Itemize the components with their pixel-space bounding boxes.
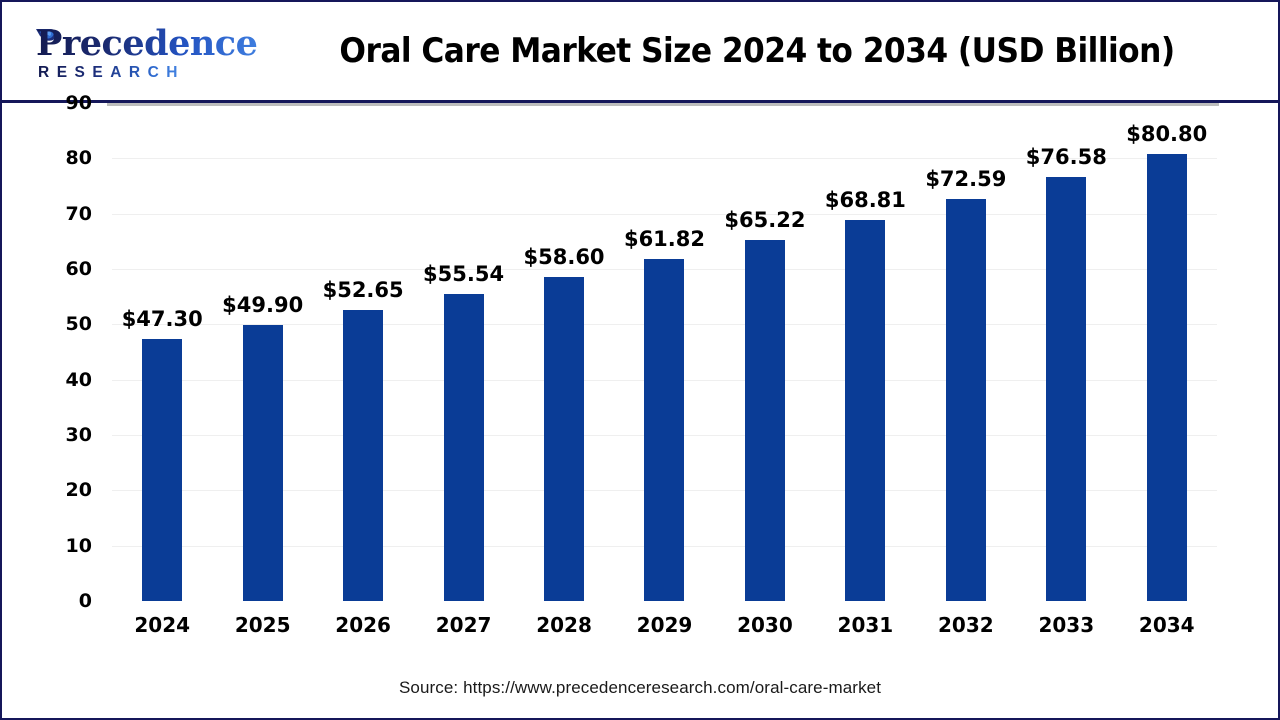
bar[interactable] bbox=[644, 259, 684, 601]
bar[interactable] bbox=[343, 310, 383, 601]
source-caption: Source: https://www.precedenceresearch.c… bbox=[2, 678, 1278, 698]
x-axis-tick-label: 2025 bbox=[235, 613, 291, 637]
bar-value-label: $47.30 bbox=[122, 307, 203, 331]
bar-group: $68.812031 bbox=[815, 103, 915, 601]
y-axis-tick-label: 20 bbox=[32, 479, 92, 501]
x-axis-tick-label: 2029 bbox=[637, 613, 693, 637]
bar-group: $52.652026 bbox=[313, 103, 413, 601]
logo-subtext: RESEARCH bbox=[38, 64, 185, 82]
bar-group: $76.582033 bbox=[1016, 103, 1116, 601]
bar-value-label: $49.90 bbox=[222, 293, 303, 317]
bar-series: $47.302024$49.902025$52.652026$55.542027… bbox=[112, 103, 1217, 601]
chart-page: Precedence RESEARCH Oral Care Market Siz… bbox=[0, 0, 1280, 720]
x-axis-tick-label: 2028 bbox=[536, 613, 592, 637]
chart-header: Precedence RESEARCH Oral Care Market Siz… bbox=[2, 2, 1278, 103]
bar-value-label: $76.58 bbox=[1026, 145, 1107, 169]
bar-group: $49.902025 bbox=[212, 103, 312, 601]
bar-group: $58.602028 bbox=[514, 103, 614, 601]
bar[interactable] bbox=[243, 325, 283, 601]
y-axis-tick-label: 80 bbox=[32, 147, 92, 169]
bar[interactable] bbox=[1147, 154, 1187, 601]
y-axis-tick-label: 30 bbox=[32, 424, 92, 446]
bar-group: $72.592032 bbox=[916, 103, 1016, 601]
bar-value-label: $61.82 bbox=[624, 227, 705, 251]
bar[interactable] bbox=[142, 339, 182, 601]
x-axis-tick-label: 2030 bbox=[737, 613, 793, 637]
bar[interactable] bbox=[845, 220, 885, 601]
bar[interactable] bbox=[444, 294, 484, 601]
bar-group: $80.802034 bbox=[1117, 103, 1217, 601]
bar-group: $55.542027 bbox=[413, 103, 513, 601]
y-axis-tick-label: 40 bbox=[32, 369, 92, 391]
y-axis-tick-label: 90 bbox=[32, 92, 92, 114]
x-axis-tick-label: 2034 bbox=[1139, 613, 1195, 637]
bar-group: $65.222030 bbox=[715, 103, 815, 601]
bar[interactable] bbox=[544, 277, 584, 601]
bar-value-label: $68.81 bbox=[825, 188, 906, 212]
bar-value-label: $72.59 bbox=[925, 167, 1006, 191]
bar[interactable] bbox=[946, 199, 986, 601]
bar-value-label: $65.22 bbox=[724, 208, 805, 232]
y-axis-tick-label: 60 bbox=[32, 258, 92, 280]
x-axis-tick-label: 2033 bbox=[1038, 613, 1094, 637]
logo-wordmark: Precedence bbox=[36, 24, 257, 64]
y-axis-tick-label: 10 bbox=[32, 535, 92, 557]
x-axis-tick-label: 2031 bbox=[838, 613, 894, 637]
y-axis-tick-label: 70 bbox=[32, 203, 92, 225]
x-axis-tick-label: 2026 bbox=[335, 613, 391, 637]
x-axis-tick-label: 2032 bbox=[938, 613, 994, 637]
bar-group: $61.822029 bbox=[614, 103, 714, 601]
bar-value-label: $80.80 bbox=[1126, 122, 1207, 146]
y-axis-tick-label: 0 bbox=[32, 590, 92, 612]
bar-value-label: $52.65 bbox=[323, 278, 404, 302]
bar[interactable] bbox=[745, 240, 785, 601]
y-axis-tick-label: 50 bbox=[32, 313, 92, 335]
bar[interactable] bbox=[1046, 177, 1086, 601]
bar-group: $47.302024 bbox=[112, 103, 212, 601]
page-title: Oral Care Market Size 2024 to 2034 (USD … bbox=[292, 2, 1221, 100]
precedence-research-logo: Precedence RESEARCH bbox=[18, 24, 228, 86]
bar-value-label: $58.60 bbox=[524, 245, 605, 269]
chart-plot-area: 0102030405060708090 $47.302024$49.902025… bbox=[2, 103, 1278, 718]
x-axis-tick-label: 2027 bbox=[436, 613, 492, 637]
bar-value-label: $55.54 bbox=[423, 262, 504, 286]
x-axis-tick-label: 2024 bbox=[134, 613, 190, 637]
